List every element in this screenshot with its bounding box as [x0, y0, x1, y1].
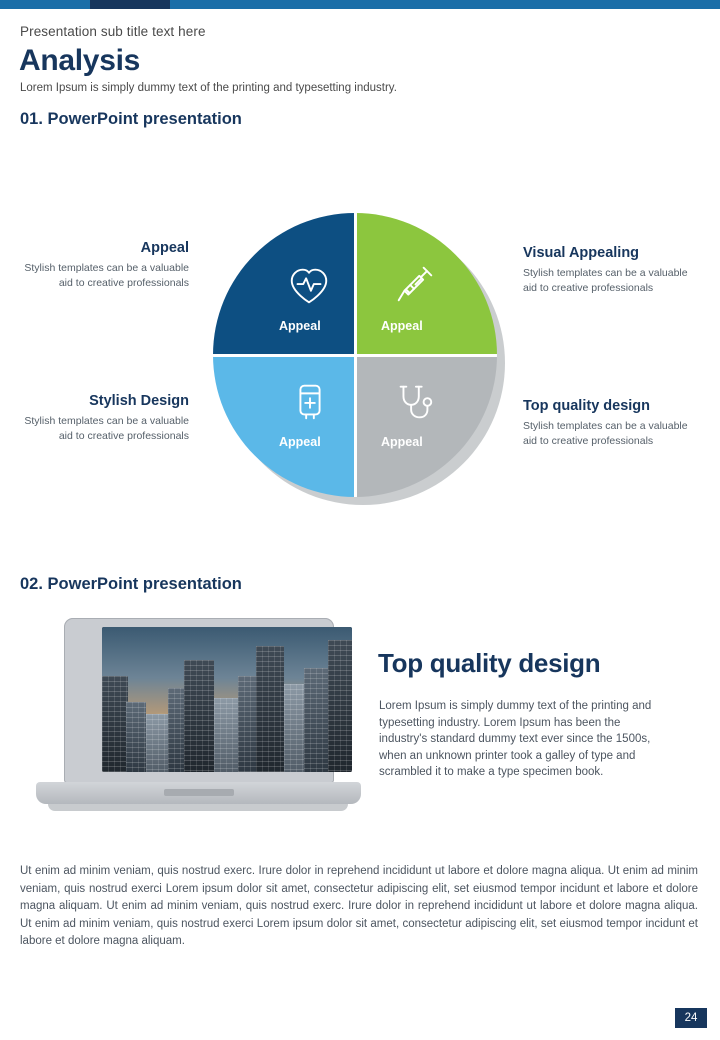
stethoscope-icon — [391, 379, 437, 425]
laptop-shadow — [48, 804, 348, 811]
page-number-badge: 24 — [675, 1008, 707, 1028]
callout-top-quality-design: Top quality design Stylish templates can… — [523, 398, 698, 449]
laptop-lid — [64, 618, 334, 783]
top-accent-bar — [0, 0, 720, 9]
quadrant-label-top-left: Appeal — [279, 319, 321, 333]
quadrant-top-left[interactable] — [213, 213, 355, 355]
quadrant-wheel-diagram: Appeal Appeal Appeal Appeal — [213, 213, 505, 505]
callout-visual-appealing-body: Stylish templates can be a valuable aid … — [523, 266, 698, 296]
laptop-screen — [102, 627, 352, 772]
laptop-trackpad — [164, 789, 234, 796]
callout-appeal-title: Appeal — [14, 240, 189, 256]
quadrant-label-bottom-right: Appeal — [381, 435, 423, 449]
callout-top-quality-design-body: Stylish templates can be a valuable aid … — [523, 419, 698, 449]
page-title: Analysis — [19, 44, 140, 78]
iv-drip-icon — [287, 379, 333, 425]
quadrant-label-top-right: Appeal — [381, 319, 423, 333]
callout-stylish-design-body: Stylish templates can be a valuable aid … — [14, 414, 189, 444]
callout-visual-appealing-title: Visual Appealing — [523, 245, 698, 261]
laptop-illustration — [36, 618, 361, 838]
bottom-paragraph: Ut enim ad minim veniam, quis nostrud ex… — [20, 863, 698, 951]
callout-visual-appealing: Visual Appealing Stylish templates can b… — [523, 245, 698, 296]
quadrant-label-bottom-left: Appeal — [279, 435, 321, 449]
syringe-icon — [392, 261, 438, 307]
callout-top-quality-design-title: Top quality design — [523, 398, 698, 414]
section-heading-two: 02. PowerPoint presentation — [20, 575, 242, 594]
top-accent-segment-3 — [170, 0, 720, 9]
section-heading-one: 01. PowerPoint presentation — [20, 110, 242, 129]
quadrant-bottom-left[interactable] — [213, 355, 355, 497]
feature-body: Lorem Ipsum is simply dummy text of the … — [379, 698, 669, 781]
top-accent-segment-1 — [0, 0, 90, 9]
callout-appeal: Appeal Stylish templates can be a valuab… — [14, 240, 189, 291]
callout-stylish-design: Stylish Design Stylish templates can be … — [14, 393, 189, 444]
presentation-subtitle: Presentation sub title text here — [20, 24, 206, 39]
callout-stylish-design-title: Stylish Design — [14, 393, 189, 409]
top-accent-segment-2 — [90, 0, 170, 9]
wheel-divider-horizontal — [213, 354, 497, 357]
callout-appeal-body: Stylish templates can be a valuable aid … — [14, 261, 189, 291]
city-skyline-photo — [102, 627, 352, 772]
quadrant-bottom-right[interactable] — [355, 355, 497, 497]
wheel: Appeal Appeal Appeal Appeal — [213, 213, 497, 497]
heartbeat-icon — [286, 263, 332, 309]
page-lead-text: Lorem Ipsum is simply dummy text of the … — [20, 82, 397, 94]
feature-title: Top quality design — [378, 648, 600, 679]
